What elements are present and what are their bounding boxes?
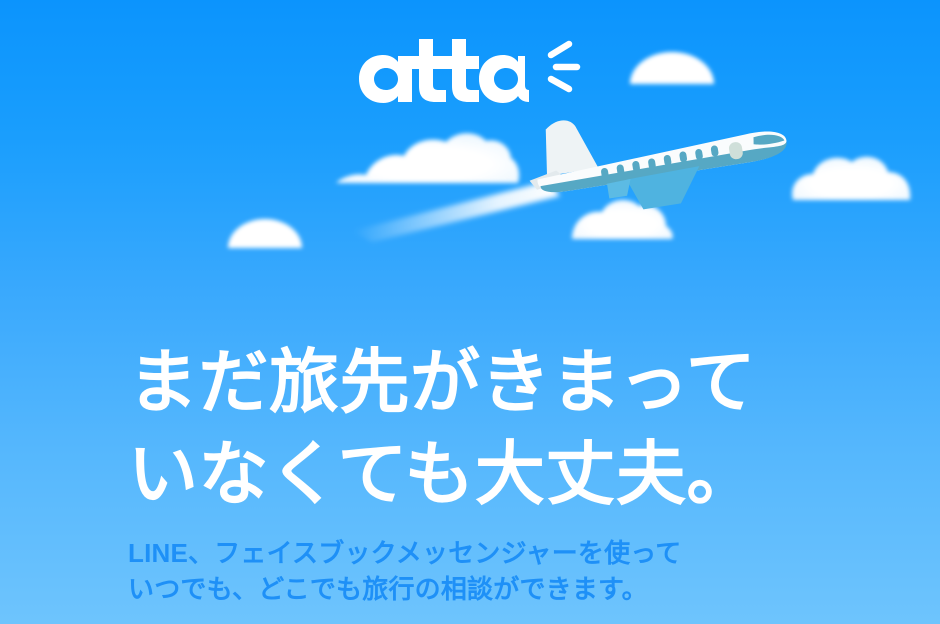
headline-line-1: まだ旅先がきまって xyxy=(128,336,828,428)
airplane-contrail xyxy=(352,181,560,242)
headline-line-2: いなくても大丈夫。 xyxy=(128,428,828,520)
cloud-wispy-left xyxy=(336,133,519,183)
sparkle-rays-icon xyxy=(543,38,587,94)
subtitle-line-1: LINE、フェイスブックメッセンジャーを使って xyxy=(128,536,848,572)
brand-logo[interactable] xyxy=(0,22,940,108)
page-title: まだ旅先がきまって いなくても大丈夫。 xyxy=(128,336,828,521)
hero-banner: まだ旅先がきまって いなくても大丈夫。 LINE、フェイスブックメッセンジャーを… xyxy=(0,0,940,624)
subtitle-line-2: いつでも、どこでも旅行の相談ができます。 xyxy=(128,572,848,608)
cloud-dome-small-left xyxy=(228,219,302,248)
page-subtitle: LINE、フェイスブックメッセンジャーを使って いつでも、どこでも旅行の相談がで… xyxy=(128,536,848,608)
logo-wordmark xyxy=(353,27,529,103)
cloud-puffy-right xyxy=(792,157,910,200)
